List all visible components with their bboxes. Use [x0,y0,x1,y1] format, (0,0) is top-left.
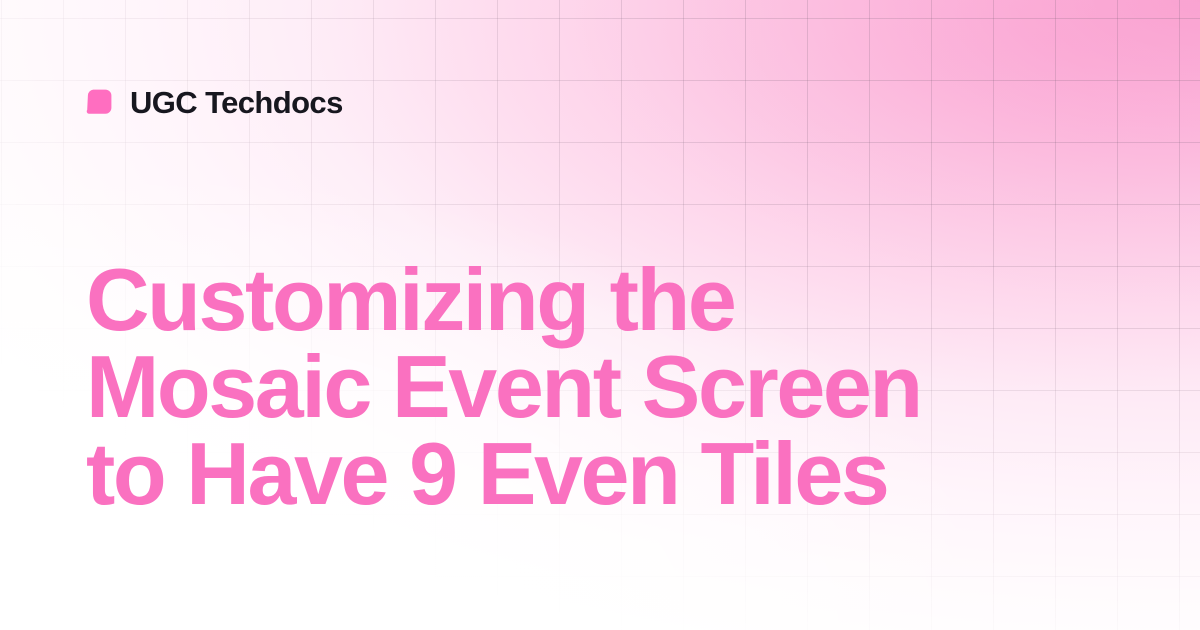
og-card: UGC Techdocs Customizing the Mosaic Even… [0,0,1200,630]
brand-name: UGC Techdocs [130,87,343,118]
page-title: Customizing the Mosaic Event Screen to H… [86,256,1106,517]
card-content: UGC Techdocs Customizing the Mosaic Even… [0,0,1200,630]
tag-drop-icon [86,89,112,115]
brand-lockup: UGC Techdocs [86,84,343,120]
